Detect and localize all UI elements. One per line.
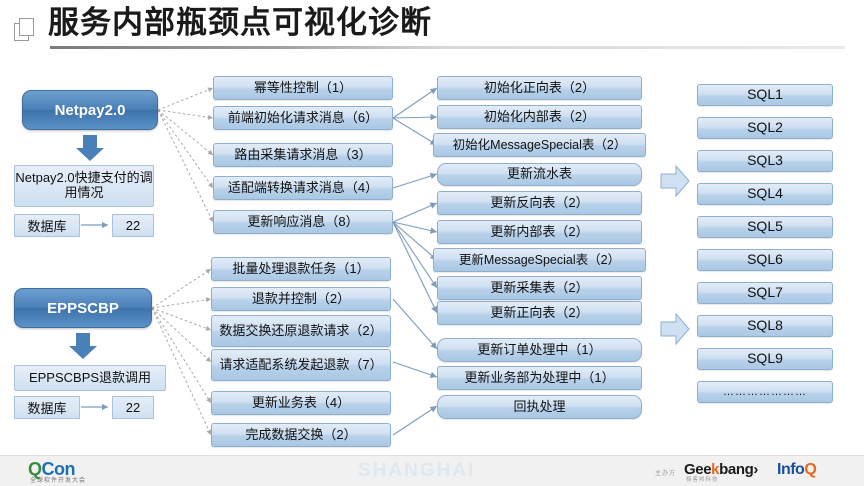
sql-label: ………………… bbox=[723, 386, 807, 398]
table-box[interactable]: 更新反向表（2） bbox=[437, 191, 642, 215]
sql-box[interactable]: SQL6 bbox=[697, 249, 833, 271]
step-label: 更新业务表（4） bbox=[252, 396, 350, 411]
table-box[interactable]: 更新业务部为处理中（1） bbox=[437, 366, 642, 390]
service-node-netpay-label: Netpay2.0 bbox=[55, 102, 126, 119]
step-box[interactable]: 完成数据交换（2） bbox=[211, 423, 391, 447]
service-node-netpay[interactable]: Netpay2.0 bbox=[22, 90, 158, 130]
step-box[interactable]: 幂等性控制（1） bbox=[213, 76, 393, 100]
table-box[interactable]: 初始化内部表（2） bbox=[437, 105, 642, 129]
caption-netpay-label: Netpay2.0快捷支付的调用情况 bbox=[15, 171, 153, 201]
table-box[interactable]: 更新订单处理中（1） bbox=[437, 338, 642, 362]
table-label: 更新业务部为处理中（1） bbox=[464, 371, 614, 386]
db-connector-netpay bbox=[80, 219, 114, 233]
slide-canvas: 服务内部瓶颈点可视化诊断 bbox=[0, 0, 864, 485]
city-watermark: SHANGHAI bbox=[358, 460, 475, 482]
step-box[interactable]: 退款并控制（2） bbox=[211, 287, 391, 311]
table-label: 回执处理 bbox=[513, 400, 565, 415]
step-box[interactable]: 路由采集请求消息（3） bbox=[213, 143, 393, 167]
step-label: 退款并控制（2） bbox=[252, 292, 350, 307]
table-label: 更新反向表（2） bbox=[490, 196, 588, 211]
db-label-eppscbp-text: 数据库 bbox=[27, 398, 66, 417]
host-label: 主办方 bbox=[655, 468, 676, 477]
right-arrow-top bbox=[660, 164, 690, 198]
db-value-netpay: 22 bbox=[112, 214, 154, 237]
sql-box[interactable]: SQL9 bbox=[697, 348, 833, 370]
sql-label: SQL2 bbox=[747, 120, 783, 136]
sql-label: SQL5 bbox=[747, 219, 783, 235]
step-label: 路由采集请求消息（3） bbox=[234, 148, 371, 163]
geekbang-logo-part3: bang› bbox=[719, 461, 758, 478]
sql-box[interactable]: ………………… bbox=[697, 381, 833, 403]
service-node-eppscbp-label: EPPSCBP bbox=[47, 300, 119, 317]
step-box[interactable]: 数据交换还原退款请求（2） bbox=[211, 315, 391, 347]
step-label: 适配端转换请求消息（4） bbox=[228, 181, 378, 196]
sql-box[interactable]: SQL5 bbox=[697, 216, 833, 238]
sql-label: SQL4 bbox=[747, 186, 783, 202]
table-box[interactable]: 更新MessageSpecial表（2） bbox=[433, 248, 646, 272]
table-label: 更新流水表 bbox=[507, 167, 572, 182]
sql-label: SQL3 bbox=[747, 153, 783, 169]
step-label: 前端初始化请求消息（6） bbox=[228, 111, 378, 126]
step-label: 幂等性控制（1） bbox=[254, 81, 352, 96]
db-value-netpay-text: 22 bbox=[126, 218, 140, 233]
sql-label: SQL6 bbox=[747, 252, 783, 268]
sql-box[interactable]: SQL8 bbox=[697, 315, 833, 337]
caption-netpay: Netpay2.0快捷支付的调用情况 bbox=[14, 165, 154, 207]
table-label: 更新内部表（2） bbox=[490, 225, 588, 240]
qcon-tagline: 全球软件开发大会 bbox=[30, 475, 86, 484]
page-title: 服务内部瓶颈点可视化诊断 bbox=[48, 4, 432, 42]
sql-box[interactable]: SQL2 bbox=[697, 117, 833, 139]
infoq-logo-part2: Q bbox=[804, 461, 816, 478]
table-label: 更新订单处理中（1） bbox=[477, 343, 601, 358]
table-label: 更新MessageSpecial表（2） bbox=[459, 253, 620, 267]
slide-header: 服务内部瓶颈点可视化诊断 bbox=[0, 0, 864, 58]
sql-box[interactable]: SQL1 bbox=[697, 84, 833, 106]
sql-box[interactable]: SQL3 bbox=[697, 150, 833, 172]
down-arrow-eppscbp bbox=[69, 333, 97, 360]
step-label: 更新响应消息（8） bbox=[247, 215, 358, 230]
service-node-eppscbp[interactable]: EPPSCBP bbox=[14, 288, 152, 328]
infoq-logo: InfoQ bbox=[777, 461, 816, 479]
table-label: 初始化MessageSpecial表（2） bbox=[453, 138, 627, 152]
sql-box[interactable]: SQL7 bbox=[697, 282, 833, 304]
table-label: 更新采集表（2） bbox=[490, 281, 588, 296]
table-box[interactable]: 回执处理 bbox=[437, 395, 642, 419]
caption-eppscbp-label: EPPSCBPS退款调用 bbox=[29, 371, 151, 386]
step-box[interactable]: 适配端转换请求消息（4） bbox=[213, 176, 393, 200]
step-box[interactable]: 批量处理退款任务（1） bbox=[211, 257, 391, 281]
table-label: 更新正向表（2） bbox=[490, 306, 588, 321]
sql-label: SQL8 bbox=[747, 318, 783, 334]
step-box[interactable]: 更新业务表（4） bbox=[211, 391, 391, 415]
table-box[interactable]: 初始化MessageSpecial表（2） bbox=[433, 133, 646, 157]
step-label: 完成数据交换（2） bbox=[245, 428, 356, 443]
table-box[interactable]: 初始化正向表（2） bbox=[437, 76, 642, 100]
sql-label: SQL7 bbox=[747, 285, 783, 301]
step-label: 批量处理退款任务（1） bbox=[232, 262, 369, 277]
sql-box[interactable]: SQL4 bbox=[697, 183, 833, 205]
down-arrow-netpay bbox=[76, 135, 104, 162]
infoq-logo-part1: Info bbox=[777, 461, 804, 478]
table-label: 初始化内部表（2） bbox=[484, 110, 595, 125]
geekbang-tagline: 极客邦科技 bbox=[686, 475, 719, 483]
copy-slide-icon bbox=[14, 18, 36, 42]
title-divider bbox=[50, 46, 845, 49]
table-label: 初始化正向表（2） bbox=[484, 81, 595, 96]
table-box[interactable]: 更新正向表（2） bbox=[437, 301, 642, 325]
db-label-netpay-text: 数据库 bbox=[27, 216, 66, 235]
table-box[interactable]: 更新内部表（2） bbox=[437, 220, 642, 244]
step-box[interactable]: 请求适配系统发起退款（7） bbox=[211, 349, 391, 381]
step-label: 数据交换还原退款请求（2） bbox=[219, 324, 382, 339]
table-box[interactable]: 更新流水表 bbox=[437, 163, 642, 186]
step-box[interactable]: 更新响应消息（8） bbox=[213, 210, 393, 234]
db-connector-eppscbp bbox=[80, 401, 114, 415]
step-label: 请求适配系统发起退款（7） bbox=[219, 358, 382, 373]
db-value-eppscbp-text: 22 bbox=[126, 400, 140, 415]
step-box[interactable]: 前端初始化请求消息（6） bbox=[213, 106, 393, 130]
caption-eppscbp: EPPSCBPS退款调用 bbox=[14, 365, 166, 391]
db-label-eppscbp: 数据库 bbox=[14, 396, 80, 419]
db-value-eppscbp: 22 bbox=[112, 396, 154, 419]
db-label-netpay: 数据库 bbox=[14, 214, 80, 237]
table-box[interactable]: 更新采集表（2） bbox=[437, 276, 642, 300]
sql-label: SQL9 bbox=[747, 351, 783, 367]
right-arrow-bottom bbox=[660, 312, 690, 346]
sql-label: SQL1 bbox=[747, 87, 783, 103]
